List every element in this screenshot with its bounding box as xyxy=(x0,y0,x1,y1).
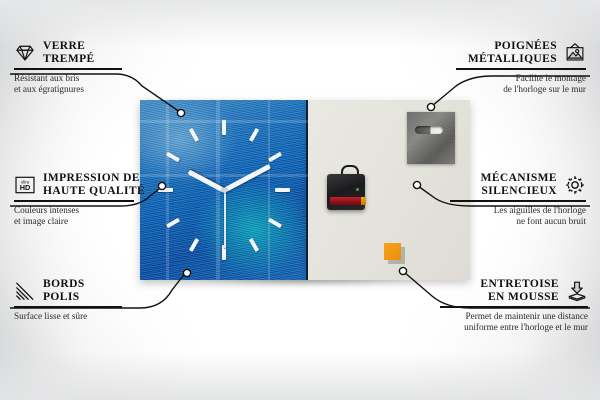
clock-tick-4 xyxy=(268,218,282,228)
clock-tick-11 xyxy=(189,128,199,142)
callout-heading: VERRE TREMPÉ xyxy=(14,40,140,65)
callout-heading: MÉCANISME SILENCIEUX xyxy=(450,172,586,197)
callout-rule xyxy=(14,200,134,202)
callout-title-line1: ENTRETOISE xyxy=(480,278,559,291)
callout-rule xyxy=(14,68,122,70)
clock-hand-hub xyxy=(222,188,227,193)
battery-positive-cap xyxy=(361,197,366,205)
callout-subtitle-line2: et aux égratignures xyxy=(14,84,140,95)
polished-edge-icon xyxy=(14,280,36,302)
callout-title-line2: SILENCIEUX xyxy=(481,185,557,198)
diamond-icon xyxy=(14,42,36,64)
callout-bords-polis[interactable]: BORDS POLIS Surface lisse et sûre xyxy=(14,278,140,322)
callout-heading: POIGNÉES MÉTALLIQUES xyxy=(456,40,586,65)
callout-heading: BORDS POLIS xyxy=(14,278,140,303)
svg-text:HD: HD xyxy=(20,183,31,192)
callout-title-line1: BORDS xyxy=(43,278,85,291)
infographic-canvas: VERRE TREMPÉ Résistant aux bris et aux é… xyxy=(0,0,600,400)
callout-title-line1: MÉCANISME xyxy=(481,172,557,185)
callout-subtitle-line2: et image claire xyxy=(14,216,150,227)
callout-rule xyxy=(450,200,586,202)
printed-glass-clock-face xyxy=(140,100,308,280)
callout-subtitle-line1: Résistant aux bris xyxy=(14,73,140,84)
art-grid-line xyxy=(140,174,308,177)
hanger-keyhole-slot xyxy=(415,126,443,134)
press-down-icon xyxy=(566,280,588,302)
picture-frame-icon xyxy=(564,42,586,64)
art-grid-line xyxy=(268,100,270,280)
callout-subtitle-line2: uniforme entre l'horloge et le mur xyxy=(440,322,588,333)
callout-rule xyxy=(456,68,586,70)
callout-title-line2: TREMPÉ xyxy=(43,53,95,66)
callout-subtitle-line1: Permet de maintenir une distance xyxy=(440,311,588,322)
metal-hanger-plate xyxy=(407,112,455,164)
mechanism-indicator-dot xyxy=(356,188,359,191)
callout-subtitle-line1: Surface lisse et sûre xyxy=(14,311,140,322)
callout-entretoise-en-mousse[interactable]: ENTRETOISE EN MOUSSE Permet de maintenir… xyxy=(440,278,588,333)
clock-tick-3 xyxy=(275,188,290,192)
callout-title-line1: IMPRESSION DE xyxy=(43,172,145,185)
clock-tick-7 xyxy=(189,238,199,252)
callout-subtitle-line1: Les aiguilles de l'horloge xyxy=(450,205,586,216)
callout-subtitle-line1: Couleurs intenses xyxy=(14,205,150,216)
callout-title-line2: EN MOUSSE xyxy=(480,291,559,304)
callout-heading: ultra HD IMPRESSION DE HAUTE QUALITÉ xyxy=(14,172,150,197)
callout-title-line2: POLIS xyxy=(43,291,85,304)
callout-title-line2: MÉTALLIQUES xyxy=(468,53,557,66)
clock-minute-hand xyxy=(223,164,271,193)
clock-tick-2 xyxy=(268,152,282,162)
clock-tick-1 xyxy=(249,128,259,142)
clock-tick-9 xyxy=(158,188,173,192)
callout-subtitle-line2: ne font aucun bruit xyxy=(450,216,586,227)
callout-title-line1: POIGNÉES xyxy=(468,40,557,53)
gear-icon xyxy=(564,174,586,196)
callout-poignees-metalliques[interactable]: POIGNÉES MÉTALLIQUES Facilite le montage… xyxy=(456,40,586,95)
callout-title-line1: VERRE xyxy=(43,40,95,53)
callout-impression-haute-qualite[interactable]: ultra HD IMPRESSION DE HAUTE QUALITÉ Cou… xyxy=(14,172,150,227)
callout-rule xyxy=(14,306,122,308)
callout-subtitle-line2: de l'horloge sur le mur xyxy=(456,84,586,95)
clock-tick-5 xyxy=(249,238,259,252)
aa-battery xyxy=(330,197,361,205)
callout-rule xyxy=(440,306,588,308)
clock-second-hand xyxy=(224,190,226,248)
product-image xyxy=(140,100,470,280)
callout-title-line2: HAUTE QUALITÉ xyxy=(43,185,145,198)
callout-mecanisme-silencieux[interactable]: MÉCANISME SILENCIEUX Les aiguilles de l'… xyxy=(450,172,586,227)
clock-tick-12 xyxy=(222,120,226,135)
orange-foam-spacer xyxy=(384,243,401,260)
callout-verre-trempe[interactable]: VERRE TREMPÉ Résistant aux bris et aux é… xyxy=(14,40,140,95)
ultra-hd-icon: ultra HD xyxy=(14,174,36,196)
callout-subtitle-line1: Facilite le montage xyxy=(456,73,586,84)
callout-heading: ENTRETOISE EN MOUSSE xyxy=(440,278,588,303)
